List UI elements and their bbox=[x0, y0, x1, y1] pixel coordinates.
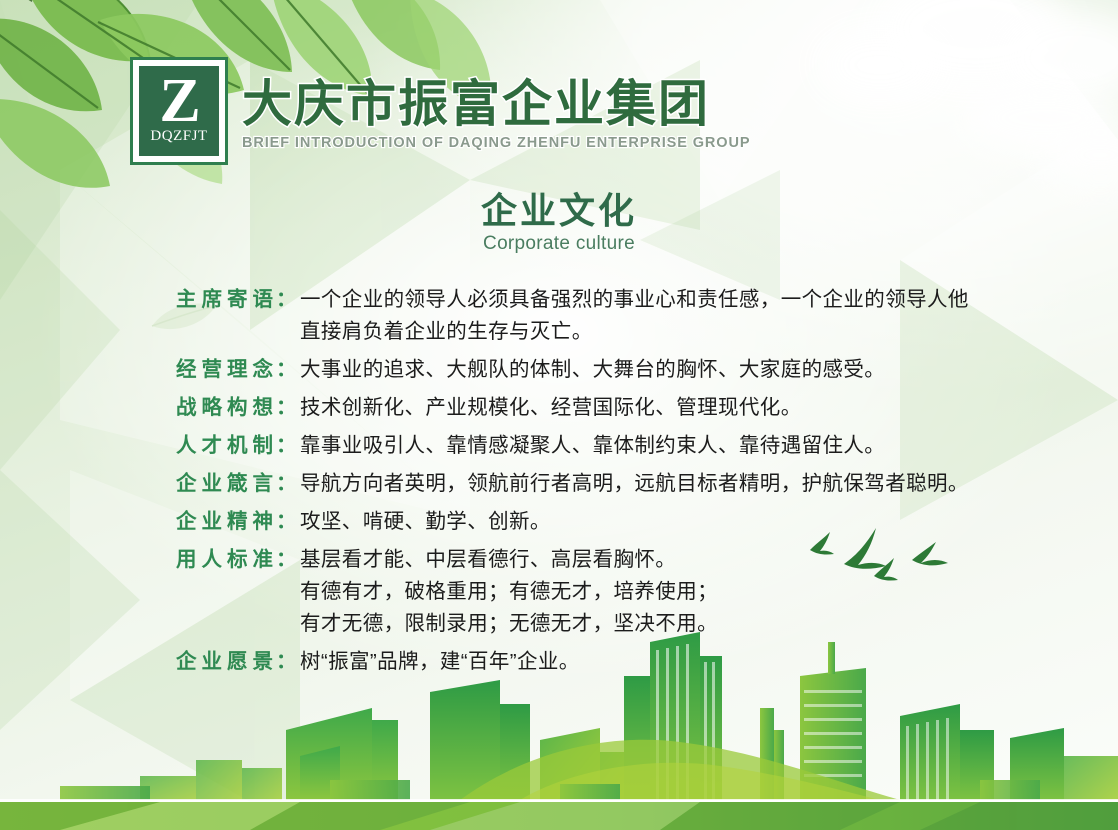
culture-row-body: 靠事业吸引人、靠情感凝聚人、靠体制约束人、靠待遇留住人。 bbox=[300, 430, 1006, 462]
culture-row-line: 导航方向者英明，领航前行者高明，远航目标者精明，护航保驾者聪明。 bbox=[300, 468, 1006, 500]
culture-row-label: 人才机制： bbox=[176, 428, 300, 458]
culture-row-line: 直接肩负着企业的生存与灭亡。 bbox=[300, 316, 1006, 348]
culture-row-label: 经营理念： bbox=[176, 352, 300, 382]
culture-row-body: 导航方向者英明，领航前行者高明，远航目标者精明，护航保驾者聪明。 bbox=[300, 468, 1006, 500]
culture-row-body: 一个企业的领导人必须具备强烈的事业心和责任感，一个企业的领导人他直接肩负着企业的… bbox=[300, 284, 1006, 348]
company-name-en: BRIEF INTRODUCTION OF DAQING ZHENFU ENTE… bbox=[242, 135, 750, 151]
label-colon: ： bbox=[276, 288, 297, 311]
section-title: 企业文化 Corporate culture bbox=[0, 190, 1118, 255]
label-colon: ： bbox=[276, 472, 297, 495]
company-logo: Z DQZFJT bbox=[130, 57, 228, 165]
culture-row-label: 企业精神： bbox=[176, 504, 300, 534]
culture-row-label: 主席寄语： bbox=[176, 282, 300, 312]
culture-row-line: 大事业的追求、大舰队的体制、大舞台的胸怀、大家庭的感受。 bbox=[300, 354, 1006, 386]
section-title-cn: 企业文化 bbox=[0, 190, 1118, 231]
label-colon: ： bbox=[276, 396, 297, 419]
culture-row-line: 技术创新化、产业规模化、经营国际化、管理现代化。 bbox=[300, 392, 1006, 424]
brand-header: Z DQZFJT 大庆市振富企业集团 BRIEF INTRODUCTION OF… bbox=[130, 57, 750, 165]
label-colon: ： bbox=[276, 434, 297, 457]
culture-row-body: 大事业的追求、大舰队的体制、大舞台的胸怀、大家庭的感受。 bbox=[300, 354, 1006, 386]
label-colon: ： bbox=[276, 548, 297, 571]
culture-row-label: 企业箴言： bbox=[176, 466, 300, 496]
culture-row: 主席寄语：一个企业的领导人必须具备强烈的事业心和责任感，一个企业的领导人他直接肩… bbox=[176, 282, 1006, 348]
culture-row-label: 战略构想： bbox=[176, 390, 300, 420]
company-name-cn: 大庆市振富企业集团 bbox=[242, 79, 750, 129]
label-colon: ： bbox=[276, 358, 297, 381]
logo-letter: Z bbox=[159, 75, 198, 128]
section-title-en: Corporate culture bbox=[0, 233, 1118, 255]
label-colon: ： bbox=[276, 510, 297, 533]
culture-row-label: 用人标准： bbox=[176, 542, 300, 572]
culture-row: 企业箴言：导航方向者英明，领航前行者高明，远航目标者精明，护航保驾者聪明。 bbox=[176, 466, 1006, 500]
culture-row-line: 靠事业吸引人、靠情感凝聚人、靠体制约束人、靠待遇留住人。 bbox=[300, 430, 1006, 462]
culture-row: 战略构想：技术创新化、产业规模化、经营国际化、管理现代化。 bbox=[176, 390, 1006, 424]
logo-abbreviation: DQZFJT bbox=[150, 128, 207, 145]
culture-row: 人才机制：靠事业吸引人、靠情感凝聚人、靠体制约束人、靠待遇留住人。 bbox=[176, 428, 1006, 462]
culture-row-line: 一个企业的领导人必须具备强烈的事业心和责任感，一个企业的领导人他 bbox=[300, 284, 1006, 316]
cityscape-skyline-icon bbox=[0, 580, 1118, 830]
poster-canvas: Z DQZFJT 大庆市振富企业集团 BRIEF INTRODUCTION OF… bbox=[0, 0, 1118, 830]
culture-row-body: 技术创新化、产业规模化、经营国际化、管理现代化。 bbox=[300, 392, 1006, 424]
culture-row: 经营理念：大事业的追求、大舰队的体制、大舞台的胸怀、大家庭的感受。 bbox=[176, 352, 1006, 386]
